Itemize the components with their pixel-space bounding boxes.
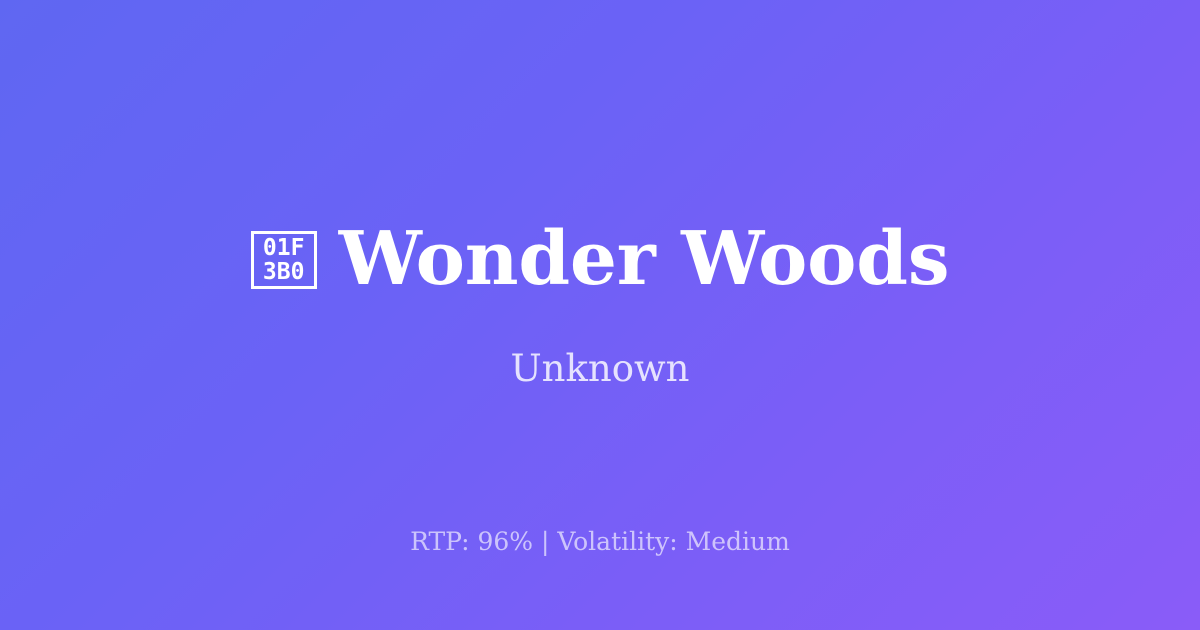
hero-block: 01F 3B0 Wonder Woods Unknown bbox=[0, 222, 1200, 390]
slot-machine-emoji-codepoint-bottom: 3B0 bbox=[263, 260, 305, 284]
slot-machine-emoji-codepoint-top: 01F bbox=[263, 236, 305, 260]
game-og-card: 01F 3B0 Wonder Woods Unknown RTP: 96% | … bbox=[0, 0, 1200, 630]
slot-machine-emoji-icon: 01F 3B0 bbox=[251, 231, 317, 289]
page-title: 01F 3B0 Wonder Woods bbox=[251, 222, 950, 296]
game-provider-subtitle: Unknown bbox=[510, 349, 689, 390]
game-title-text: Wonder Woods bbox=[339, 222, 950, 296]
game-stats-line: RTP: 96% | Volatility: Medium bbox=[0, 528, 1200, 556]
